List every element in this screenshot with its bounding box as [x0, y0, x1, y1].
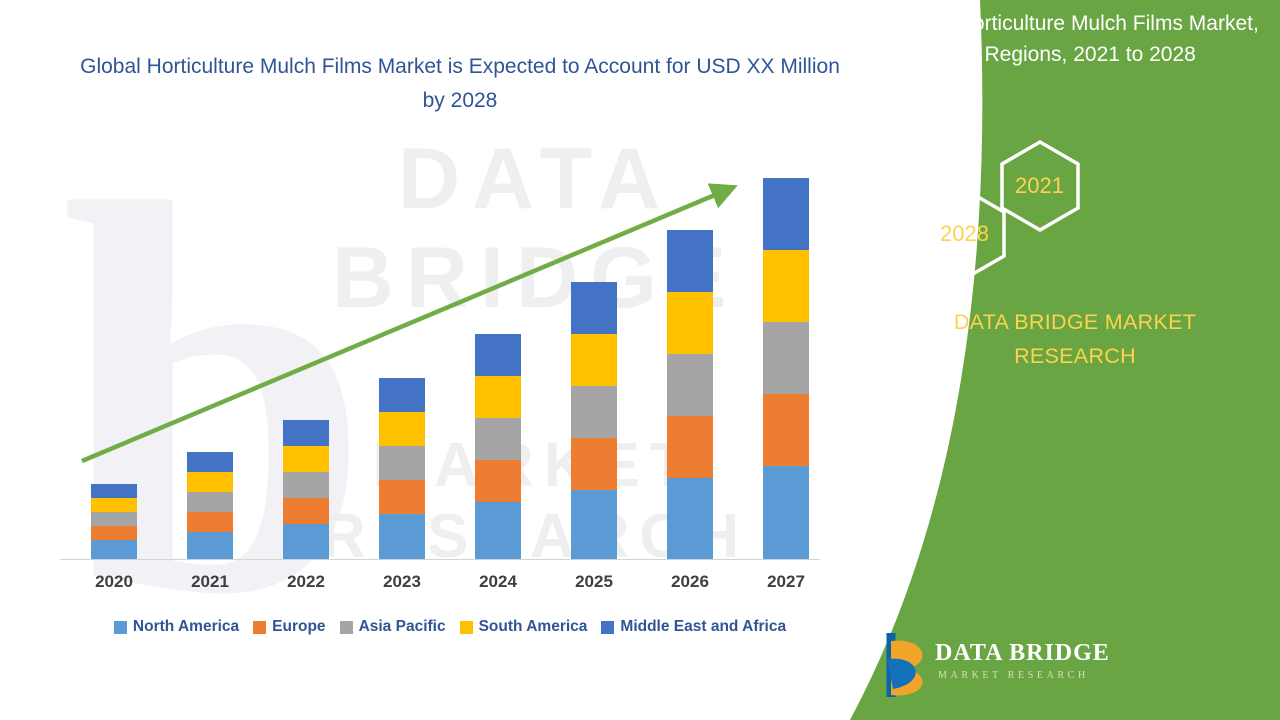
- hex-label-2028: 2028: [940, 221, 989, 247]
- bar-segment: [379, 446, 425, 480]
- legend-item[interactable]: Asia Pacific: [340, 618, 446, 636]
- x-axis-label: 2026: [642, 572, 738, 592]
- hexagon-group: 2021 2028: [910, 140, 1240, 300]
- legend-label: Europe: [272, 618, 325, 636]
- legend-swatch-icon: [340, 621, 353, 634]
- x-axis-label: 2027: [738, 572, 834, 592]
- bar-segment: [763, 322, 809, 394]
- x-axis-label: 2025: [546, 572, 642, 592]
- legend-item[interactable]: North America: [114, 618, 239, 636]
- x-axis-label: 2022: [258, 572, 354, 592]
- bar-segment: [283, 524, 329, 560]
- bar-segment: [187, 452, 233, 472]
- legend-label: Middle East and Africa: [620, 618, 786, 636]
- bar-segment: [763, 178, 809, 250]
- bar-segment: [475, 502, 521, 560]
- legend-label: North America: [133, 618, 239, 636]
- bar-segment: [91, 540, 137, 560]
- legend-swatch-icon: [114, 621, 127, 634]
- bar-segment: [283, 498, 329, 524]
- bar-column: [379, 378, 425, 560]
- bar-segment: [91, 526, 137, 540]
- chart-title: Global Horticulture Mulch Films Market i…: [70, 50, 850, 118]
- x-axis-label: 2024: [450, 572, 546, 592]
- bar-segment: [379, 514, 425, 560]
- bar-segment: [379, 480, 425, 514]
- bar-segment: [763, 466, 809, 560]
- hex-label-2021: 2021: [1015, 173, 1064, 199]
- bar-segment: [475, 460, 521, 502]
- bar-segment: [91, 498, 137, 512]
- bar-column: [667, 230, 713, 560]
- chart-legend: North AmericaEuropeAsia PacificSouth Ame…: [55, 618, 845, 636]
- branding-panel: Global Horticulture Mulch Films Market, …: [850, 0, 1280, 720]
- x-axis-label: 2021: [162, 572, 258, 592]
- bar-segment: [571, 490, 617, 560]
- bar-segment: [571, 438, 617, 490]
- x-axis-line: [60, 559, 820, 560]
- x-axis-label: 2020: [66, 572, 162, 592]
- chart-plot-area: [60, 150, 820, 560]
- bar-column: [571, 282, 617, 560]
- bar-segment: [187, 492, 233, 512]
- bar-segment: [187, 532, 233, 560]
- bar-segment: [667, 292, 713, 354]
- bar-segment: [379, 412, 425, 446]
- bar-column: [283, 420, 329, 560]
- bar-segment: [475, 376, 521, 418]
- bar-segment: [283, 472, 329, 498]
- bar-segment: [667, 416, 713, 478]
- bar-segment: [379, 378, 425, 412]
- logo-text: DATA BRIDGE: [935, 640, 1110, 667]
- bar-column: [763, 178, 809, 560]
- legend-item[interactable]: Middle East and Africa: [601, 618, 786, 636]
- legend-label: South America: [479, 618, 588, 636]
- bar-segment: [283, 446, 329, 472]
- bar-column: [91, 484, 137, 560]
- bar-segment: [475, 334, 521, 376]
- legend-swatch-icon: [601, 621, 614, 634]
- bar-segment: [475, 418, 521, 460]
- bar-segment: [187, 472, 233, 492]
- bar-segment: [91, 484, 137, 498]
- bar-column: [187, 452, 233, 560]
- bar-segment: [571, 282, 617, 334]
- panel-brand-name: DATA BRIDGE MARKET RESEARCH: [900, 305, 1250, 373]
- bar-segment: [763, 394, 809, 466]
- bar-segment: [763, 250, 809, 322]
- hexagon-icon: [910, 140, 1240, 300]
- legend-item[interactable]: South America: [460, 618, 588, 636]
- logo-subtext: MARKET RESEARCH: [938, 670, 1089, 681]
- panel-title: Global Horticulture Mulch Films Market, …: [890, 8, 1260, 70]
- bar-segment: [667, 230, 713, 292]
- bar-segment: [91, 512, 137, 526]
- legend-label: Asia Pacific: [359, 618, 446, 636]
- legend-swatch-icon: [253, 621, 266, 634]
- bar-segment: [283, 420, 329, 446]
- legend-item[interactable]: Europe: [253, 618, 325, 636]
- bar-segment: [571, 334, 617, 386]
- bar-column: [475, 334, 521, 560]
- x-axis-labels: 20202021202220232024202520262027: [60, 572, 820, 598]
- x-axis-label: 2023: [354, 572, 450, 592]
- legend-swatch-icon: [460, 621, 473, 634]
- bar-segment: [667, 478, 713, 560]
- bar-segment: [667, 354, 713, 416]
- bar-segment: [187, 512, 233, 532]
- bar-segment: [571, 386, 617, 438]
